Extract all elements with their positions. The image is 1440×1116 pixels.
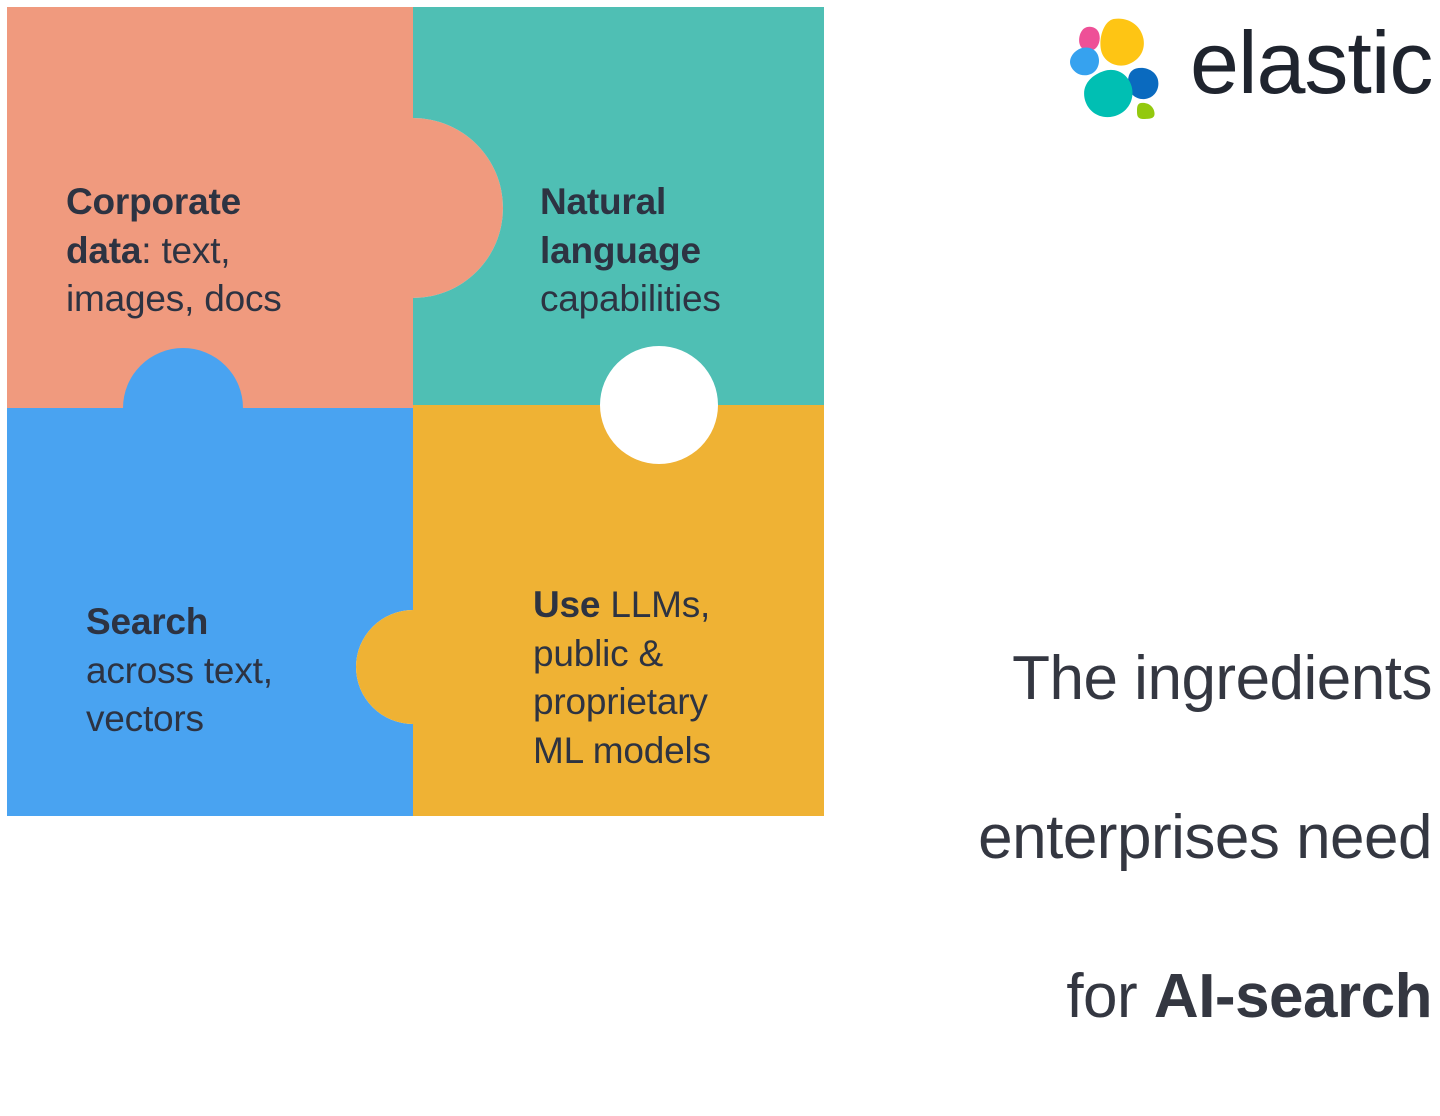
puzzle-label-natural-language-bold: Natural language — [540, 181, 701, 270]
tagline-line-1: The ingredients — [832, 639, 1432, 718]
puzzle-label-use-llms-bold: Use — [533, 584, 600, 625]
puzzle-graphic: Corporate data: text, images, docs Natur… — [0, 0, 830, 825]
slide-canvas: Corporate data: text, images, docs Natur… — [0, 0, 1440, 825]
tagline: The ingredients enterprises need for AI-… — [832, 560, 1432, 1116]
tagline-line-3-bold: AI-search — [1154, 962, 1432, 1031]
elastic-cluster-icon — [1058, 16, 1168, 119]
tagline-line-2: enterprises need — [832, 798, 1432, 877]
puzzle-label-search: Search across text, vectors — [86, 550, 376, 744]
tagline-line-3-prefix: for — [1066, 962, 1154, 1031]
puzzle-label-natural-language: Natural language capabilities — [540, 130, 830, 324]
puzzle-label-search-rest: across text, vectors — [86, 650, 273, 739]
puzzle-label-use-llms: Use LLMs, public & proprietary ML models — [533, 533, 823, 775]
puzzle-label-search-bold: Search — [86, 601, 208, 642]
puzzle-label-natural-language-rest: capabilities — [540, 278, 721, 319]
tagline-line-3: for AI-search — [832, 957, 1432, 1036]
puzzle-label-corporate-data: Corporate data: text, images, docs — [66, 130, 366, 324]
elastic-wordmark: elastic — [1190, 19, 1432, 107]
elastic-logo[interactable]: elastic — [1058, 14, 1430, 120]
